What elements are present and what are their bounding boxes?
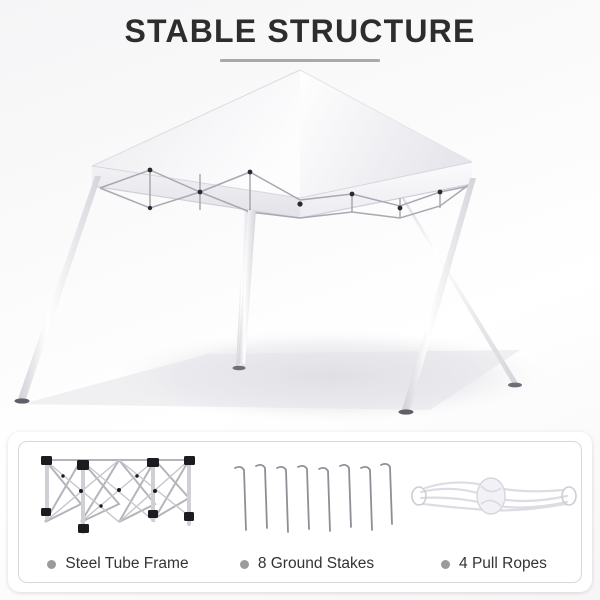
part-label-text: 4 Pull Ropes <box>459 555 547 573</box>
bullet-icon <box>441 560 450 569</box>
parts-list: Steel Tube Frame <box>19 442 583 584</box>
bullet-icon <box>47 560 56 569</box>
steel-tube-frame-icon <box>23 446 213 550</box>
part-label-text: Steel Tube Frame <box>65 555 188 573</box>
part-label-text: 8 Ground Stakes <box>258 555 374 573</box>
hero-image <box>0 58 600 426</box>
rope-knot <box>477 478 505 514</box>
pull-ropes-icon <box>405 446 583 550</box>
bullet-icon <box>240 560 249 569</box>
parts-card: Steel Tube Frame <box>8 432 592 592</box>
part-item-steel-tube-frame[interactable]: Steel Tube Frame <box>23 442 213 584</box>
part-label-pull-ropes: 4 Pull Ropes <box>405 552 583 576</box>
ground-stakes-icon <box>209 446 405 550</box>
part-label-ground-stakes: 8 Ground Stakes <box>209 552 405 576</box>
ground-shadow <box>22 330 545 422</box>
infographic-page: STABLE STRUCTURE <box>0 0 600 600</box>
part-item-ground-stakes[interactable]: 8 Ground Stakes <box>209 442 405 584</box>
canopy-roof <box>92 70 472 218</box>
part-label-steel-tube-frame: Steel Tube Frame <box>23 552 213 576</box>
part-item-pull-ropes[interactable]: 4 Pull Ropes <box>405 442 583 584</box>
page-title: STABLE STRUCTURE <box>0 12 600 50</box>
parts-card-border: Steel Tube Frame <box>18 441 582 583</box>
